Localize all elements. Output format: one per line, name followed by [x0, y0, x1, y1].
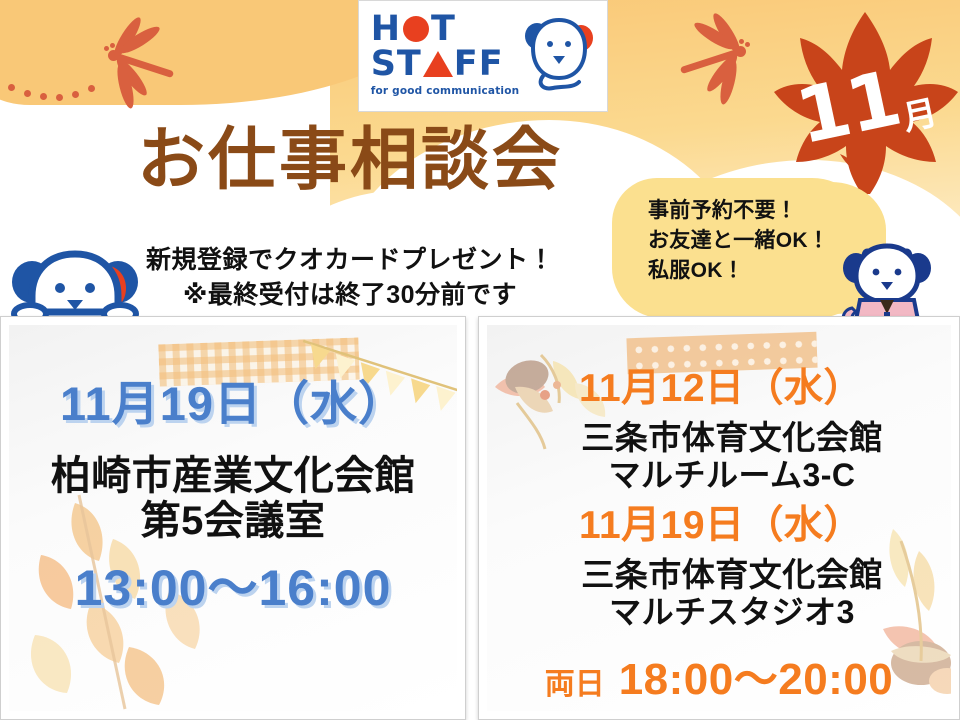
- logo-red-triangle-icon: [423, 51, 453, 77]
- subtitle-line-2: ※最終受付は終了30分前です: [90, 278, 610, 313]
- event-venue: 三条市体育文化会館: [487, 556, 951, 594]
- logo-st: ST: [371, 47, 422, 82]
- mascot-dog-icon: [523, 16, 595, 92]
- event-time: 13:00〜16:00: [9, 561, 457, 616]
- event-venue: 柏崎市産業文化会館: [9, 454, 457, 500]
- poster-root: 11 月 H T ST FF for good communication: [0, 0, 960, 720]
- event-venue: 三条市体育文化会館: [487, 419, 951, 457]
- logo-red-circle-icon: [403, 16, 429, 42]
- logo-h: H: [371, 12, 401, 47]
- bubble-line-1: 事前予約不要！: [648, 196, 888, 226]
- dotted-trail-icon: [8, 80, 104, 104]
- logo-tagline: for good communication: [371, 86, 520, 97]
- month-number: 11: [790, 60, 905, 155]
- logo-t: T: [431, 12, 456, 47]
- event-room: 第5会議室: [9, 499, 457, 545]
- maple-leaf-icon: 11 月: [770, 8, 960, 200]
- logo-ff: FF: [454, 47, 504, 82]
- hot-staff-logo: H T ST FF for good communication: [358, 0, 608, 112]
- subtitle-block: 新規登録でクオカードプレゼント！ ※最終受付は終了30分前です: [90, 243, 610, 312]
- event-time-prefix: 両日: [545, 659, 605, 703]
- panel-left-content: 11月19日（水） 柏崎市産業文化会館 第5会議室 13:00〜16:00: [9, 379, 457, 616]
- event-date: 11月12日（水）: [487, 367, 951, 411]
- event-time: 18:00〜20:00: [619, 643, 894, 707]
- dragonfly-icon: [648, 24, 758, 102]
- event-date: 11月19日（水）: [487, 504, 951, 548]
- logo-line-staff: ST FF: [371, 47, 520, 82]
- event-time-row: 両日 18:00〜20:00: [487, 643, 951, 707]
- event-date: 11月19日（水）: [9, 379, 457, 430]
- mascot-dog-icon: [10, 248, 140, 326]
- subtitle-line-1: 新規登録でクオカードプレゼント！: [90, 243, 610, 278]
- event-room: マルチルーム3-C: [487, 457, 951, 494]
- event-panel-sanjo: 11月12日（水） 三条市体育文化会館 マルチルーム3-C 11月19日（水） …: [478, 316, 960, 720]
- logo-line-hot: H T: [371, 12, 520, 47]
- panel-right-content: 11月12日（水） 三条市体育文化会館 マルチルーム3-C 11月19日（水） …: [487, 367, 951, 707]
- page-title: お仕事相談会: [0, 126, 700, 194]
- dragonfly-icon: [96, 28, 206, 106]
- event-room: マルチスタジオ3: [487, 594, 951, 631]
- event-panel-kashiwazaki: 11月19日（水） 柏崎市産業文化会館 第5会議室 13:00〜16:00: [0, 316, 466, 720]
